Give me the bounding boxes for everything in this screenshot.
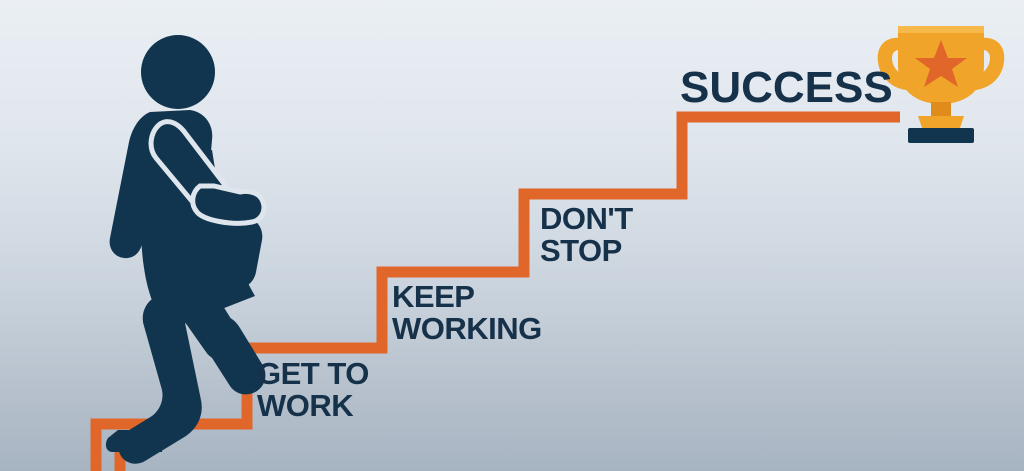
step-label-get-to-work: GET TO WORK — [257, 358, 369, 421]
step-label-success: SUCCESS — [680, 66, 893, 111]
step-label-dont-stop: DON'T STOP — [540, 203, 633, 266]
step-label-keep-working: KEEP WORKING — [392, 281, 542, 344]
trophy-icon — [878, 26, 1005, 143]
illustration-canvas: GET TO WORK KEEP WORKING DON'T STOP SUCC… — [0, 0, 1024, 471]
